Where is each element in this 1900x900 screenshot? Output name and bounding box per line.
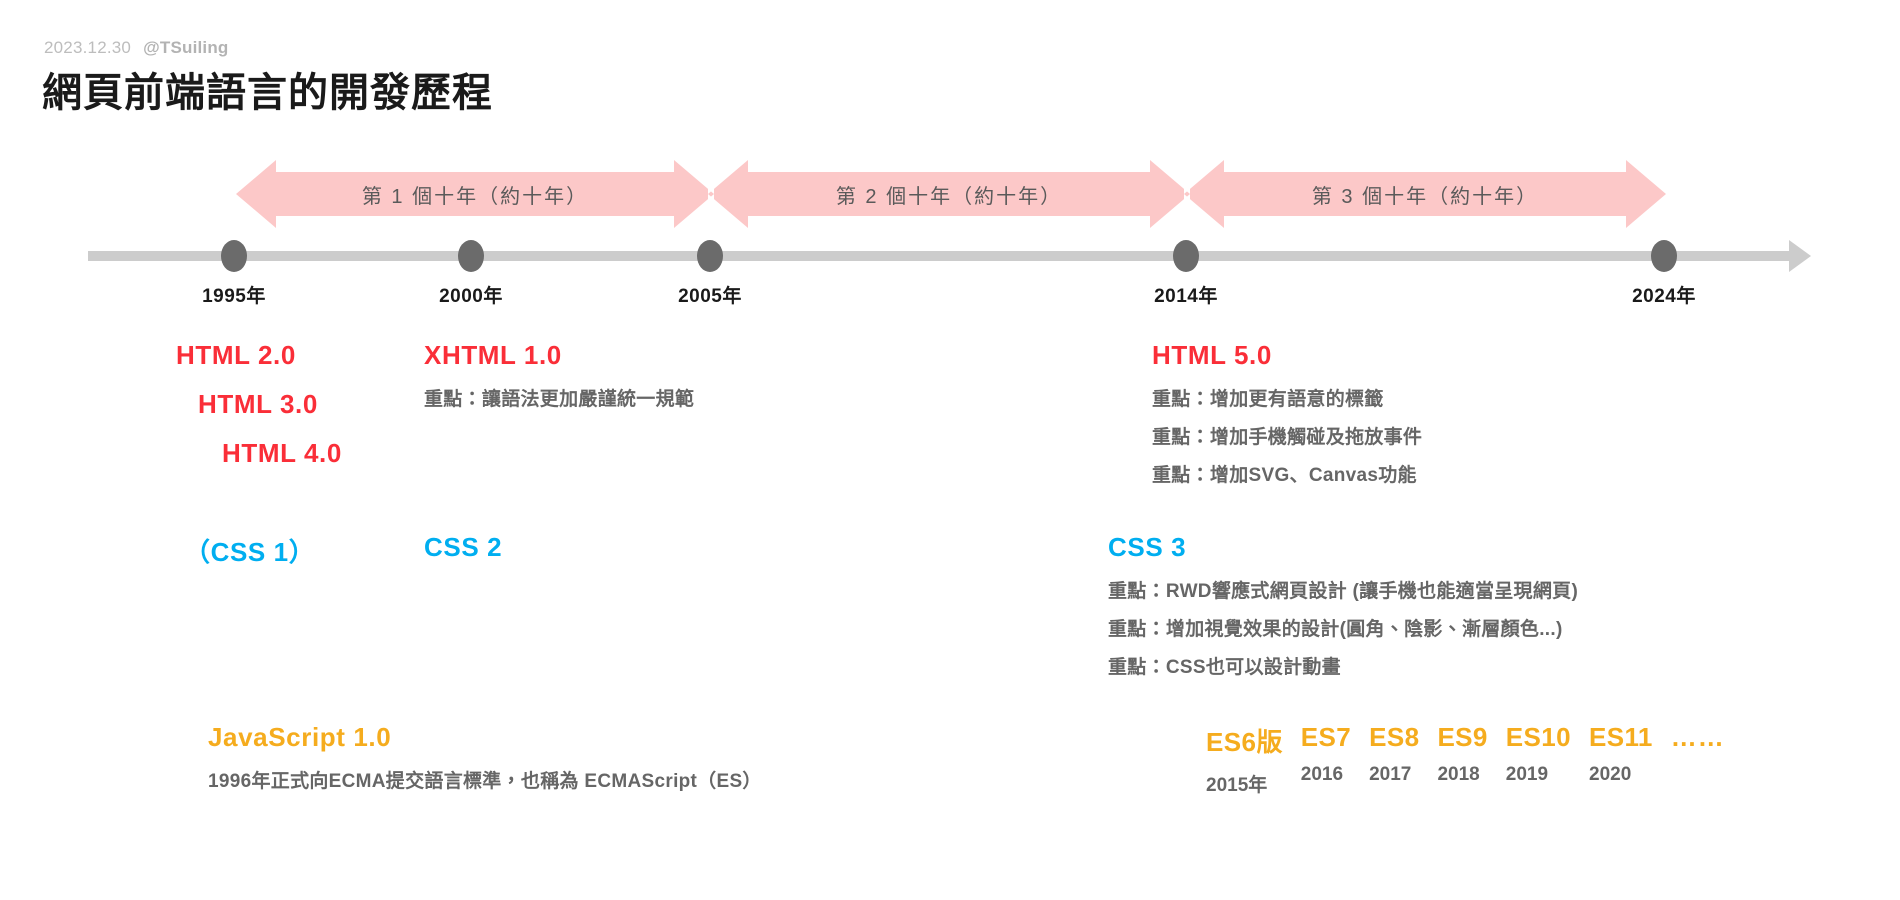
css3-note-2: 重點：增加視覺效果的設計(圓角、陰影、漸層顏色...): [1108, 611, 1578, 649]
timeline-axis-line: [88, 251, 1793, 261]
html5-note-1: 重點：增加更有語意的標籤: [1152, 381, 1422, 419]
meta-line: 2023.12.30@TSuiling: [44, 38, 229, 58]
timeline-dot-2005: [697, 240, 723, 272]
year-label-2014: 2014年: [1154, 281, 1218, 308]
css-3-title: CSS 3: [1108, 532, 1578, 563]
infographic-canvas: 2023.12.30@TSuiling 網頁前端語言的開發歷程 第 1 個十年（…: [0, 0, 1900, 900]
arrow-shoulder-top: [748, 160, 1150, 172]
arrow-shoulder-top: [276, 160, 674, 172]
decade-arrow-3: 第 3 個十年（約十年）: [1184, 160, 1666, 228]
es-year-es7: 2016: [1301, 764, 1343, 786]
html5-note-2: 重點：增加手機觸碰及拖放事件: [1152, 419, 1422, 457]
css-2-label: CSS 2: [424, 532, 502, 562]
css3-block: CSS 3 重點：RWD響應式網頁設計 (讓手機也能適當呈現網頁) 重點：增加視…: [1108, 532, 1578, 687]
xhtml-1-0-title: XHTML 1.0: [424, 340, 694, 371]
html5-block: HTML 5.0 重點：增加更有語意的標籤 重點：增加手機觸碰及拖放事件 重點：…: [1152, 340, 1422, 495]
year-label-1995: 1995年: [202, 281, 266, 308]
es-name-more: ……: [1671, 722, 1725, 753]
decade-arrow-band: 第 1 個十年（約十年） 第 2 個十年（約十年） 第 3 個十年（約十年）: [0, 160, 1900, 230]
html-early-versions-block: HTML 2.0 HTML 3.0 HTML 4.0: [176, 340, 342, 469]
es-year-es11: 2020: [1589, 764, 1631, 786]
decade-arrow-1: 第 1 個十年（約十年）: [236, 160, 714, 228]
decade-label-3: 第 3 個十年（約十年）: [1312, 180, 1538, 209]
es-name-es8: ES8: [1369, 722, 1419, 753]
css1-block: （CSS 1）: [184, 532, 315, 569]
year-label-2005: 2005年: [678, 281, 742, 308]
year-label-2024: 2024年: [1632, 281, 1696, 308]
es-year-es8: 2017: [1369, 764, 1411, 786]
es-year-es10: 2019: [1506, 764, 1548, 786]
css3-note-1: 重點：RWD響應式網頁設計 (讓手機也能適當呈現網頁): [1108, 573, 1578, 611]
es-col-es11: ES11 2020: [1589, 722, 1653, 786]
es-col-more: ……: [1671, 722, 1725, 764]
es-col-es8: ES8 2017: [1369, 722, 1419, 786]
es-name-es6: ES6版: [1206, 722, 1283, 759]
timeline-axis-arrow-icon: [1789, 240, 1811, 272]
xhtml-note-1: 重點：讓語法更加嚴謹統一規範: [424, 381, 694, 419]
arrow-shoulder-top: [1224, 160, 1626, 172]
xhtml-block: XHTML 1.0 重點：讓語法更加嚴謹統一規範: [424, 340, 694, 419]
arrow-shoulder-bottom: [748, 216, 1150, 228]
publish-date: 2023.12.30: [44, 38, 131, 57]
es-year-es9: 2018: [1437, 764, 1479, 786]
page-title: 網頁前端語言的開發歷程: [42, 60, 493, 118]
es-col-es9: ES9 2018: [1437, 722, 1487, 786]
html-4-0-label: HTML 4.0: [222, 438, 342, 469]
javascript-note-1: 1996年正式向ECMA提交語言標準，也稱為 ECMAScript（ES）: [208, 763, 762, 801]
css-1-label: （CSS 1）: [184, 537, 315, 567]
javascript-block: JavaScript 1.0 1996年正式向ECMA提交語言標準，也稱為 EC…: [208, 722, 762, 801]
es-name-es9: ES9: [1437, 722, 1487, 753]
es-year-es6: 2015年: [1206, 770, 1267, 797]
es-col-es7: ES7 2016: [1301, 722, 1351, 786]
html-3-0-label: HTML 3.0: [198, 389, 342, 420]
es-name-es11: ES11: [1589, 722, 1653, 753]
decade-label-1: 第 1 個十年（約十年）: [362, 180, 588, 209]
es-version-grid: ES6版 2015年 ES7 2016 ES8 2017 ES9 2018 ES…: [1206, 722, 1743, 797]
timeline-dot-2000: [458, 240, 484, 272]
es-name-es10: ES10: [1506, 722, 1571, 753]
html-5-0-title: HTML 5.0: [1152, 340, 1422, 371]
year-label-2000: 2000年: [439, 281, 503, 308]
es-col-es6: ES6版 2015年: [1206, 722, 1283, 797]
css2-block: CSS 2: [424, 532, 502, 563]
arrow-shoulder-bottom: [276, 216, 674, 228]
html5-note-3: 重點：增加SVG、Canvas功能: [1152, 457, 1422, 495]
timeline-dot-1995: [221, 240, 247, 272]
arrow-shoulder-bottom: [1224, 216, 1626, 228]
decade-arrow-2: 第 2 個十年（約十年）: [708, 160, 1190, 228]
decade-label-2: 第 2 個十年（約十年）: [836, 180, 1062, 209]
es-name-es7: ES7: [1301, 722, 1351, 753]
author-handle: @TSuiling: [143, 38, 228, 57]
javascript-1-0-title: JavaScript 1.0: [208, 722, 762, 753]
es-col-es10: ES10 2019: [1506, 722, 1571, 786]
timeline-dot-2014: [1173, 240, 1199, 272]
timeline-dot-2024: [1651, 240, 1677, 272]
css3-note-3: 重點：CSS也可以設計動畫: [1108, 649, 1578, 687]
html-2-0-label: HTML 2.0: [176, 340, 342, 371]
